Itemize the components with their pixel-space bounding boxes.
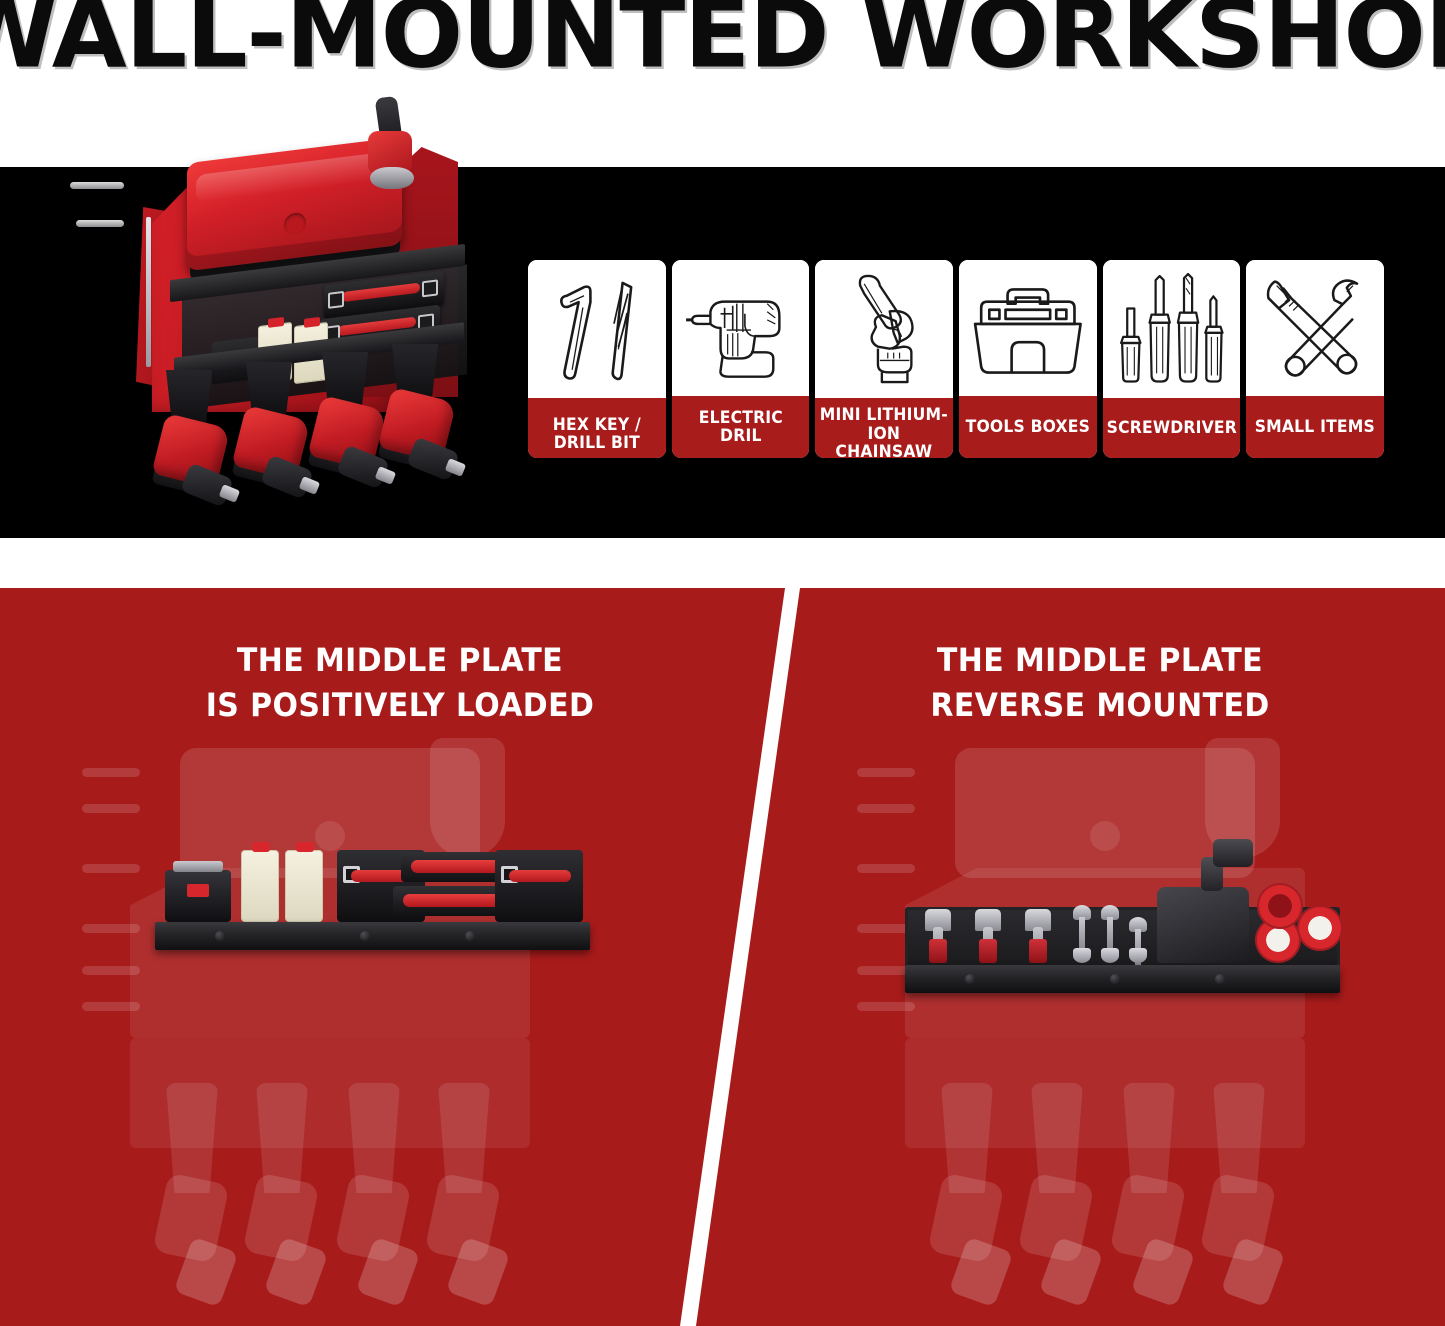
spray-bottle	[1157, 887, 1249, 963]
electric-drill-icon	[672, 260, 810, 396]
feature-card-label-text: TOOLS BOXES	[966, 418, 1090, 436]
chainsaw-foot	[370, 167, 414, 189]
comparison-heading-left: THE MIDDLE PLATE IS POSITIVELY LOADED	[78, 638, 723, 729]
bottle	[241, 850, 279, 922]
feature-card-label-text: SCREWDRIVER	[1106, 419, 1236, 437]
cordless-drill	[234, 362, 308, 512]
screw-icon	[215, 931, 225, 941]
feature-card-small-items[interactable]: SMALL ITEMS	[1246, 260, 1384, 458]
feature-card-mini-chainsaw[interactable]: MINI LITHIUM-ION CHAINSAW	[815, 260, 953, 458]
heading-line-1: THE MIDDLE PLATE	[937, 641, 1263, 679]
product-infographic: WALL-MOUNTED WORKSHOP	[0, 0, 1445, 1326]
cordless-drill	[310, 352, 384, 502]
feature-card-electric-drill[interactable]: ELECTRIC DRIL	[672, 260, 810, 458]
battery-pack	[165, 870, 231, 922]
feature-card-label-text: MINI LITHIUM-ION CHAINSAW	[819, 406, 949, 458]
wrench-icon	[1246, 260, 1384, 396]
heading-line-1: THE MIDDLE PLATE	[237, 641, 563, 679]
feature-card-strip: HEX KEY / DRILL BIT	[528, 260, 1384, 458]
hook-icon	[70, 182, 124, 189]
screw-icon	[360, 931, 370, 941]
tool-box-icon	[959, 260, 1097, 396]
spanner	[1073, 905, 1091, 963]
feature-card-hex-key-drill-bit[interactable]: HEX KEY / DRILL BIT	[528, 260, 666, 458]
mini-chainsaw	[362, 97, 432, 212]
adjustable-wrench	[921, 909, 955, 963]
screw-icon	[965, 974, 975, 984]
heading-line-2: IS POSITIVELY LOADED	[206, 686, 594, 724]
drill-chuck	[406, 436, 460, 481]
feature-card-label: HEX KEY / DRILL BIT	[528, 398, 666, 458]
hex-key-drill-bit-icon	[528, 260, 666, 398]
feature-card-screwdriver[interactable]: SCREWDRIVER	[1103, 260, 1241, 458]
case-handle	[342, 283, 420, 303]
cordless-drill	[380, 344, 454, 494]
shelf-contents-left	[155, 844, 590, 922]
cordless-drill	[154, 370, 228, 520]
feature-card-label-text: HEX KEY / DRILL BIT	[553, 416, 641, 453]
shelf-contents-right	[905, 907, 1340, 963]
shelf-plate	[155, 922, 590, 950]
feature-card-label-text: SMALL ITEMS	[1255, 418, 1375, 436]
drill-chuck	[260, 454, 314, 499]
adjustable-wrench	[971, 909, 1005, 963]
spanner	[1101, 905, 1119, 963]
hero-band: HEX KEY / DRILL BIT	[0, 167, 1445, 538]
drill-chuck	[180, 462, 234, 507]
tool-case	[495, 850, 583, 922]
bottle	[285, 850, 323, 922]
middle-plate-reverse	[905, 965, 1340, 993]
screw-icon	[465, 931, 475, 941]
feature-card-label: SCREWDRIVER	[1103, 398, 1241, 458]
screwdriver-icon	[1103, 260, 1241, 398]
adjustable-wrench	[1021, 909, 1055, 963]
feature-card-tools-boxes[interactable]: TOOLS BOXES	[959, 260, 1097, 458]
hook-icon	[76, 220, 124, 227]
middle-plate-positive	[155, 922, 590, 950]
page-title: WALL-MOUNTED WORKSHOP	[0, 0, 1445, 73]
tape-roll	[1297, 905, 1343, 951]
feature-card-label: SMALL ITEMS	[1246, 396, 1384, 458]
spanner	[1129, 917, 1147, 963]
case-clip	[328, 291, 344, 309]
screw-icon	[1215, 974, 1225, 984]
feature-card-label: ELECTRIC DRIL	[672, 396, 810, 458]
product-photo	[62, 112, 482, 572]
feature-card-label: MINI LITHIUM-ION CHAINSAW	[815, 398, 953, 458]
mini-chainsaw-icon	[815, 260, 953, 398]
feature-card-label: TOOLS BOXES	[959, 396, 1097, 458]
feature-card-label-text: ELECTRIC DRIL	[675, 409, 805, 446]
shelf-plate	[905, 965, 1340, 993]
drill-bit-icon	[146, 217, 151, 367]
screw-icon	[1110, 974, 1120, 984]
case-clip	[422, 279, 438, 297]
heading-line-2: REVERSE MOUNTED	[930, 686, 1269, 724]
comparison-heading-right: THE MIDDLE PLATE REVERSE MOUNTED	[778, 638, 1423, 729]
tape-roll	[1257, 883, 1303, 929]
